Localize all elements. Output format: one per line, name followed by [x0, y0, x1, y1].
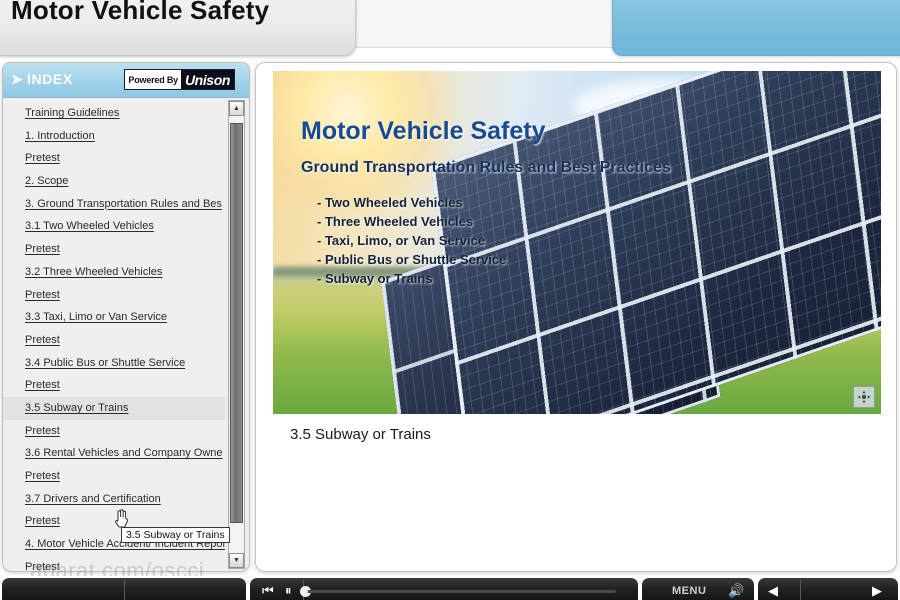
- index-item[interactable]: 3.5 Subway or Trains: [3, 397, 225, 420]
- index-item[interactable]: Training Guidelines: [3, 102, 225, 125]
- index-item-label: Pretest: [25, 243, 60, 255]
- pan-move-icon[interactable]: [853, 386, 875, 408]
- slide-caption: 3.5 Subway or Trains: [290, 426, 431, 443]
- index-item-label: 3.5 Subway or Trains: [25, 402, 128, 414]
- index-item-label: Pretest: [25, 425, 60, 437]
- unison-powered-by-text: Powered By: [125, 70, 181, 89]
- header-accent-panel: [612, 0, 900, 56]
- index-item-label: 3.2 Three Wheeled Vehicles: [25, 266, 162, 278]
- index-item[interactable]: 3.1 Two Wheeled Vehicles: [3, 215, 225, 238]
- slide-bullet-item: - Subway or Trains: [317, 269, 506, 288]
- slide-title: Motor Vehicle Safety: [301, 117, 546, 146]
- elearning-player-window: Motor Vehicle Safety ➤ INDEX Powered By …: [0, 0, 900, 600]
- slide-bullet-item: - Three Wheeled Vehicles: [317, 212, 506, 231]
- index-header[interactable]: ➤ INDEX Powered By Unison: [3, 63, 249, 98]
- unison-brand-text: Unison: [181, 70, 234, 89]
- unison-logo: Powered By Unison: [124, 69, 235, 90]
- index-item-label: 2. Scope: [25, 175, 68, 187]
- slide-bullet-item: - Taxi, Limo, or Van Service: [317, 231, 506, 250]
- index-item-label: 3.6 Rental Vehicles and Company Owne: [25, 447, 223, 459]
- index-item-label: 3.4 Public Bus or Shuttle Service: [25, 357, 185, 369]
- index-item-label: 1. Introduction: [25, 130, 95, 142]
- index-item[interactable]: 1. Introduction: [3, 125, 225, 148]
- index-item-label: 3.1 Two Wheeled Vehicles: [25, 220, 154, 232]
- index-item-label: 3.3 Taxi, Limo or Van Service: [25, 311, 167, 323]
- index-item[interactable]: Pretest: [3, 284, 225, 307]
- slide-subtitle: Ground Transportation Rules and Best Pra…: [301, 159, 671, 177]
- index-item-label: Training Guidelines: [25, 107, 119, 119]
- index-item-label: Pretest: [25, 152, 60, 164]
- slide-bullet-list: - Two Wheeled Vehicles- Three Wheeled Ve…: [317, 193, 506, 288]
- skip-next-icon[interactable]: ▶: [872, 584, 882, 597]
- index-body: Training Guidelines1. IntroductionPretes…: [3, 98, 249, 571]
- index-item-label: 3. Ground Transportation Rules and Bes: [25, 198, 222, 210]
- index-label: INDEX: [27, 71, 73, 87]
- index-item[interactable]: Pretest: [3, 329, 225, 352]
- app-header: Motor Vehicle Safety: [0, 0, 900, 60]
- page-title: Motor Vehicle Safety: [11, 0, 269, 26]
- arrow-right-icon: ➤: [11, 72, 23, 86]
- header-filler-strip: [352, 0, 614, 48]
- menu-button-label[interactable]: MENU: [672, 585, 706, 597]
- index-item[interactable]: Pretest: [3, 147, 225, 170]
- skip-previous-icon[interactable]: ⏮: [262, 584, 274, 597]
- index-item[interactable]: Pretest: [3, 238, 225, 261]
- index-item[interactable]: 3. Ground Transportation Rules and Bes: [3, 193, 225, 216]
- index-item-label: 3.7 Drivers and Certification: [25, 493, 161, 505]
- index-item-label: Pretest: [25, 334, 60, 346]
- index-item-label: Pretest: [25, 470, 60, 482]
- sidebar-scrollbar[interactable]: ▲ ▼: [228, 100, 245, 569]
- header-title-plate: Motor Vehicle Safety: [0, 0, 356, 56]
- index-item[interactable]: 2. Scope: [3, 170, 225, 193]
- progress-fill: [306, 590, 308, 593]
- player-divider: [124, 580, 125, 600]
- scroll-down-button[interactable]: ▼: [229, 553, 244, 568]
- index-item[interactable]: Pretest: [3, 556, 225, 571]
- index-sidebar: ➤ INDEX Powered By Unison Training Guide…: [2, 62, 250, 572]
- index-item[interactable]: Pretest: [3, 465, 225, 488]
- index-item[interactable]: 3.4 Public Bus or Shuttle Service: [3, 352, 225, 375]
- index-item-label: Pretest: [25, 515, 60, 527]
- content-panel: Motor Vehicle Safety Ground Transportati…: [255, 62, 897, 572]
- pause-icon[interactable]: ⏸: [285, 584, 292, 597]
- rewind-icon[interactable]: ◀: [768, 584, 778, 597]
- slide-bullet-item: - Public Bus or Shuttle Service: [317, 250, 506, 269]
- scrollbar-thumb[interactable]: [230, 123, 243, 523]
- index-list: Training Guidelines1. IntroductionPretes…: [3, 102, 225, 571]
- player-divider: [800, 580, 801, 600]
- slide-image: Motor Vehicle Safety Ground Transportati…: [273, 71, 881, 414]
- index-item[interactable]: 3.7 Drivers and Certification: [3, 488, 225, 511]
- volume-icon[interactable]: 🔊: [728, 584, 744, 597]
- slide-bullet-item: - Two Wheeled Vehicles: [317, 193, 506, 212]
- player-control-bar: ⏮ ⏸ MENU 🔊 ◀ ▶: [0, 576, 900, 600]
- index-item-label: Pretest: [25, 379, 60, 391]
- index-item[interactable]: 3.6 Rental Vehicles and Company Owne: [3, 442, 225, 465]
- index-item[interactable]: Pretest: [3, 420, 225, 443]
- progress-track[interactable]: [306, 590, 616, 593]
- scroll-up-button[interactable]: ▲: [229, 101, 244, 116]
- index-item-label: Pretest: [25, 561, 60, 571]
- index-item-label: Pretest: [25, 289, 60, 301]
- index-item[interactable]: 3.2 Three Wheeled Vehicles: [3, 261, 225, 284]
- index-item[interactable]: 3.3 Taxi, Limo or Van Service: [3, 306, 225, 329]
- index-item[interactable]: Pretest: [3, 374, 225, 397]
- index-item-tooltip: 3.5 Subway or Trains: [121, 527, 230, 543]
